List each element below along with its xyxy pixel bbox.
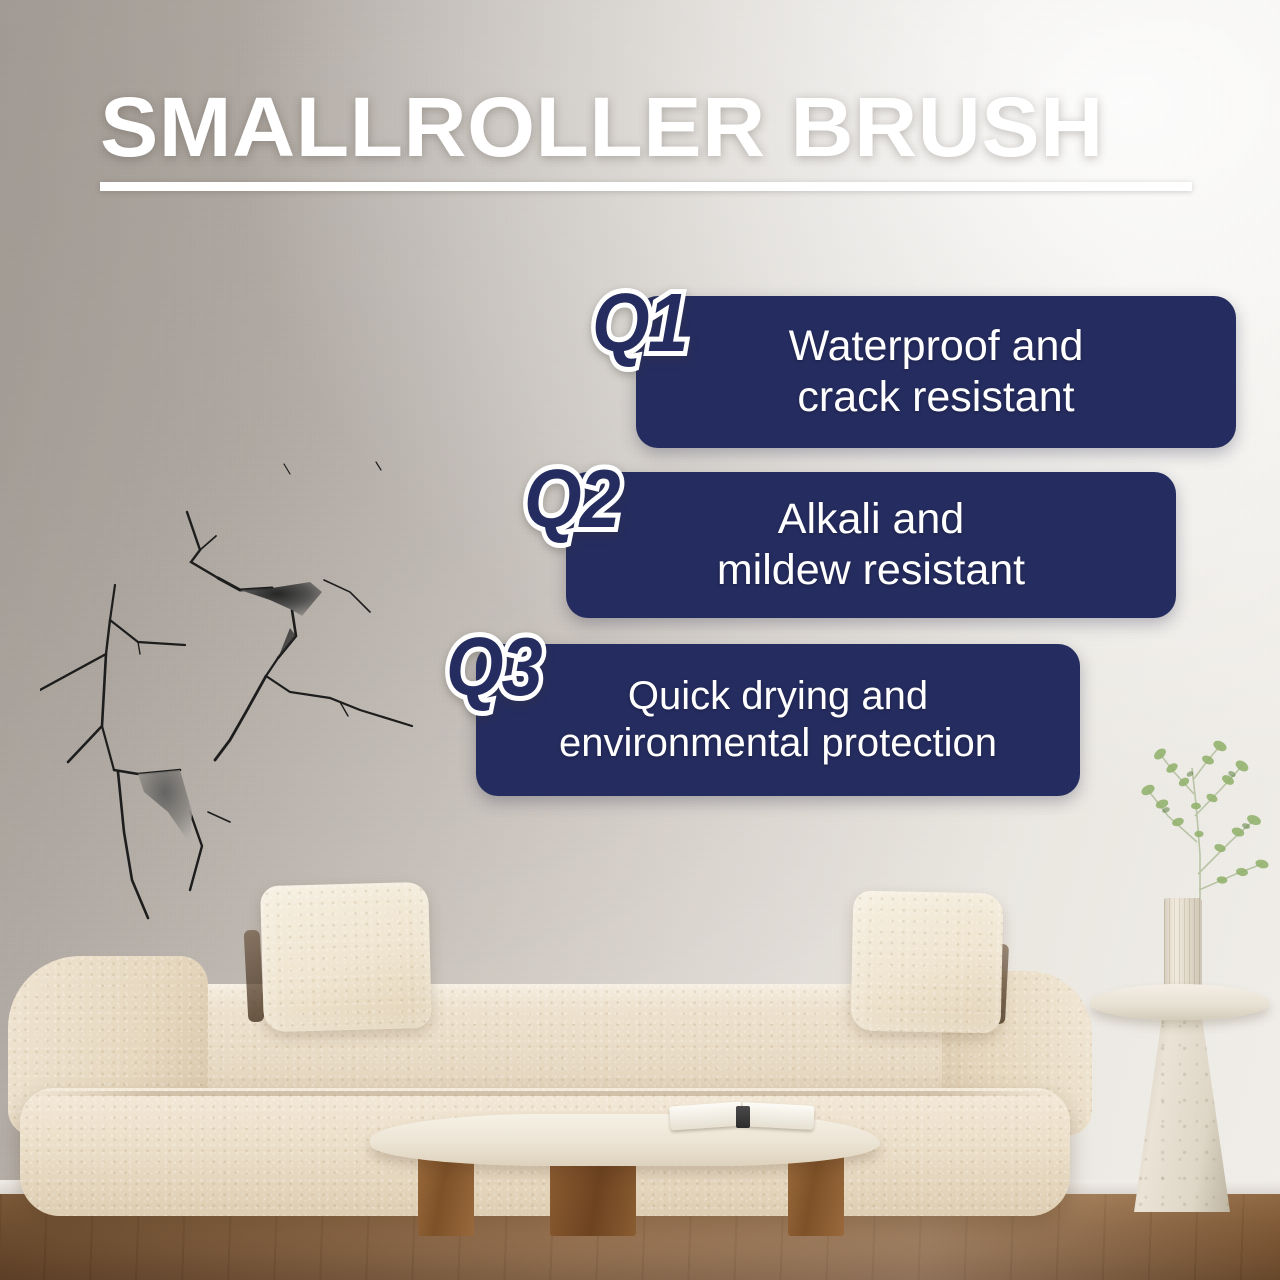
feature-card[interactable]: Alkali and mildew resistant — [566, 472, 1176, 618]
feature-card[interactable]: Quick drying and environmental protectio… — [476, 644, 1080, 796]
feature-badge-q1: Q1 — [592, 282, 687, 365]
feature-text: Alkali and mildew resistant — [695, 494, 1047, 595]
side-table-top — [1090, 984, 1270, 1020]
feature-card[interactable]: Waterproof and crack resistant — [636, 296, 1236, 448]
feature-list: Waterproof and crack resistant Q1 Alkali… — [0, 286, 1280, 806]
wood-leg-coffee-table — [370, 1096, 880, 1236]
feature-text: Waterproof and crack resistant — [767, 321, 1106, 422]
title-underline — [100, 182, 1192, 191]
pillow-texture — [260, 882, 432, 1032]
product-banner: SMALLROLLER BRUSH Waterproof and crack r… — [0, 0, 1280, 1280]
travertine-side-table — [1090, 984, 1270, 1224]
book-page-left — [669, 1102, 742, 1131]
book-spine — [736, 1106, 750, 1128]
feature-text: Quick drying and environmental protectio… — [537, 673, 1019, 767]
page-title: SMALLROLLER BRUSH — [100, 86, 1200, 191]
feature-badge-q3: Q3 — [446, 626, 541, 709]
feature-badge-q2: Q2 — [524, 458, 619, 541]
open-book — [670, 1100, 818, 1130]
throw-pillow-right — [851, 890, 1004, 1033]
throw-pillow-left — [260, 882, 432, 1032]
title-text: SMALLROLLER BRUSH — [100, 86, 1244, 168]
side-table-base — [1134, 1012, 1230, 1212]
pillow-texture — [851, 890, 1004, 1033]
book-page-right — [741, 1102, 814, 1130]
ribbed-vase — [1164, 898, 1202, 988]
